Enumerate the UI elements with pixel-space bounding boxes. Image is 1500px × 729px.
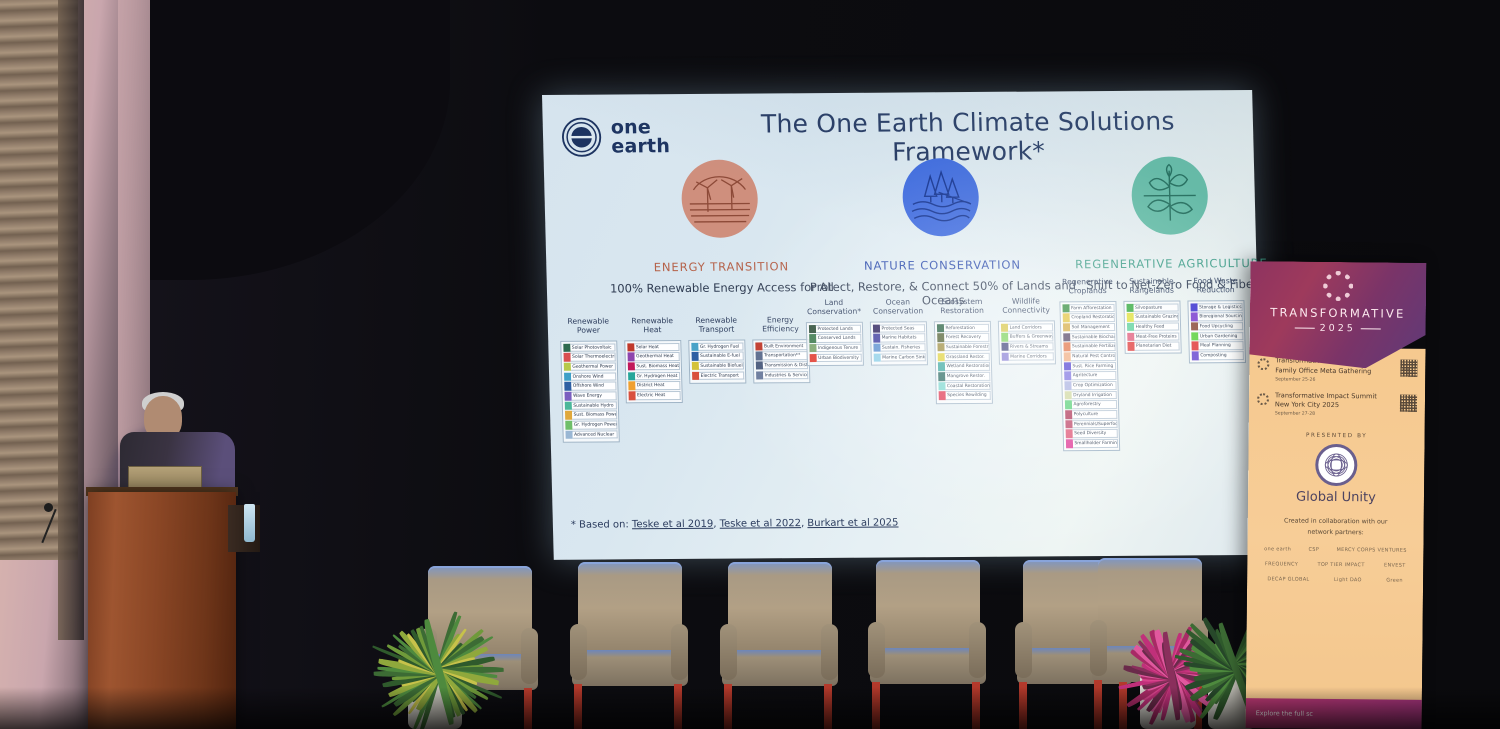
one-earth-logo: one earth xyxy=(561,116,671,158)
item-label: Electric Heat xyxy=(635,391,680,400)
list-item: Rivers & Streams xyxy=(1001,342,1053,351)
chair-back xyxy=(876,560,980,656)
column-item-list: Solar HeatGeothermal HeatSust. Biomass H… xyxy=(624,340,683,404)
global-unity-logo-icon xyxy=(1315,444,1357,486)
item-label: Seed Diversity xyxy=(1072,429,1117,438)
item-label: Rivers & Streams xyxy=(1008,342,1053,351)
item-label: Soil Management xyxy=(1069,323,1114,332)
item-label: Sustainable Biochar xyxy=(1070,333,1115,342)
chair-arm xyxy=(821,624,838,680)
item-label: Protected Lands xyxy=(815,324,860,333)
dotted-ring-icon xyxy=(1257,393,1269,405)
list-item: Solar Heat xyxy=(627,343,679,352)
pillar-nature-conservation: NATURE CONSERVATION Protect, Restore, & … xyxy=(806,157,1078,308)
framework-column: Land Conservation*Protected LandsConserv… xyxy=(805,298,864,366)
list-item: Wetland Restoration xyxy=(937,362,989,371)
item-label: Wave Energy xyxy=(571,391,616,400)
list-item: Species Rewilding xyxy=(938,391,990,400)
item-label: Agritecture xyxy=(1071,371,1116,380)
chair-arm xyxy=(720,624,737,680)
framework-column: Ecosystem RestorationReforestationForest… xyxy=(933,297,993,404)
list-item: Sustainable Grazing xyxy=(1126,313,1178,322)
event-banner: Transformative Ventures' Family Office M… xyxy=(1246,261,1427,729)
partner-logo: ENVEST xyxy=(1384,562,1406,568)
column-title: Renewable Power xyxy=(560,316,618,336)
chair-back xyxy=(728,562,832,658)
partner-logos: one earth CSP MERCY CORPS VENTURES FREQU… xyxy=(1247,546,1423,584)
list-item: Bioregional Sourcing xyxy=(1190,312,1242,321)
framework-column: Renewable PowerSolar PhotovoltaicSolar T… xyxy=(560,316,620,442)
list-item: Gr. Hydrogen Fuel xyxy=(691,342,743,351)
collab-line2: network partners: xyxy=(1248,527,1424,540)
list-item: Marine Habitats xyxy=(873,333,925,342)
banner-event-2: Transformative Impact Summit New York Ci… xyxy=(1249,391,1425,418)
item-label: Buffers & Greenways xyxy=(1008,333,1053,342)
qr-code-icon[interactable] xyxy=(1400,394,1417,411)
column-item-list: Protected LandsConserved LandsIndigenous… xyxy=(806,322,864,366)
stage-scene: one earth The One Earth Climate Solution… xyxy=(0,0,1500,729)
banner-title: TRANSFORMATIVE xyxy=(1250,305,1426,321)
list-item: Sustainable Fertilizer xyxy=(1063,342,1115,351)
pillar-subheading: 100% Renewable Energy Access for All xyxy=(607,280,837,296)
framework-column: Food Waste ReductionStorage & LogisticsB… xyxy=(1187,276,1246,363)
list-item: Seed Diversity xyxy=(1065,429,1117,438)
item-label: Solar Photovoltaic xyxy=(570,343,615,352)
item-label: Forest Recovery xyxy=(944,333,989,342)
list-item: Dryland Irrigation xyxy=(1064,391,1116,400)
list-item: Buffers & Greenways xyxy=(1001,333,1053,342)
item-label: Marine Carbon Sinks xyxy=(880,353,925,362)
column-title: Energy Efficiency xyxy=(752,315,810,335)
chair-back xyxy=(578,562,682,658)
foreground-shadow xyxy=(0,687,1500,729)
list-item: Sustainable Forestry xyxy=(937,343,989,352)
partner-logo: Green xyxy=(1386,577,1403,583)
column-item-list: ReforestationForest RecoverySustainable … xyxy=(934,321,993,404)
partner-logo: FREQUENCY xyxy=(1265,561,1298,567)
partner-logo: MERCY CORPS VENTURES xyxy=(1336,547,1406,554)
chair-arm xyxy=(570,624,587,680)
item-label: Planetarian Diet xyxy=(1134,342,1179,351)
event-date: September 25-26 xyxy=(1275,377,1394,383)
framework-column: Sustainable RangelandsSilvopastureSustai… xyxy=(1123,277,1182,355)
framework-column: Renewable TransportGr. Hydrogen FuelSust… xyxy=(688,316,747,384)
list-item: Transmission & Dist. xyxy=(755,361,807,370)
column-item-list: Land CorridorsBuffers & GreenwaysRivers … xyxy=(998,320,1056,364)
list-item: Offshore Wind xyxy=(564,382,616,391)
chair-arm xyxy=(1090,620,1107,676)
footnote-prefix: * Based on: xyxy=(571,519,632,530)
column-item-list: Protected SeasMarine HabitatsSustain. Fi… xyxy=(870,321,928,365)
list-item: Meat-Free Proteins xyxy=(1127,332,1179,341)
item-label: Composting xyxy=(1198,351,1243,360)
item-label: Mangrove Restor. xyxy=(945,372,990,381)
list-item: District Heat xyxy=(628,381,680,390)
item-label: Onshore Wind xyxy=(571,372,616,381)
one-earth-wordmark: one earth xyxy=(611,118,671,155)
list-item: Storage & Logistics xyxy=(1190,303,1242,312)
list-item: Gr. Hydrogen Power xyxy=(565,420,617,429)
partner-logo: one earth xyxy=(1264,546,1291,552)
list-item: Composting xyxy=(1191,351,1243,360)
item-label: Sustainable E-fuel xyxy=(698,352,743,361)
presenter-org-name: Global Unity xyxy=(1248,489,1424,506)
list-item: Gr. Hydrogen Heat xyxy=(628,372,680,381)
event-date: September 27-28 xyxy=(1275,412,1394,418)
framework-column: Wildlife ConnectivityLand CorridorsBuffe… xyxy=(997,296,1056,364)
item-label: Transmission & Dist. xyxy=(762,361,807,370)
item-label: Solar Heat xyxy=(634,343,679,352)
citation-link-1[interactable]: Teske et al 2019 xyxy=(632,519,714,531)
item-label: Sust. Biomass Heat xyxy=(634,362,679,371)
item-label: Indigenous Tenure xyxy=(816,344,861,353)
list-item: Sustainable E-fuel xyxy=(691,352,743,361)
presented-by-label: PRESENTED BY xyxy=(1249,432,1425,440)
list-item: Advanced Nuclear xyxy=(565,430,617,439)
list-item: Marine Corridors xyxy=(1001,352,1053,361)
item-label: Grassland Restor. xyxy=(944,352,989,361)
pillar-heading: ENERGY TRANSITION xyxy=(606,259,836,275)
item-label: Protected Seas xyxy=(879,324,924,333)
architectural-column-shadow xyxy=(58,0,84,640)
list-item: Electric Transport xyxy=(692,371,744,380)
list-item: Sustain. Fisheries xyxy=(873,343,925,352)
list-item: Indigenous Tenure xyxy=(809,344,861,353)
item-label: Silvopasture xyxy=(1133,303,1178,312)
list-item: Industries & Services xyxy=(756,371,808,380)
column-title: Food Waste Reduction xyxy=(1187,276,1245,296)
chair-arm xyxy=(521,628,538,684)
list-item: Electric Heat xyxy=(628,391,680,400)
slide-footnote: * Based on: Teske et al 2019, Teske et a… xyxy=(571,517,899,530)
item-label: Dryland Irrigation xyxy=(1071,391,1116,400)
list-item: Solar Thermoelectric xyxy=(563,353,615,362)
microphone-icon xyxy=(44,503,53,512)
list-item: Silvopasture xyxy=(1126,303,1178,312)
column-title: Regenerative Croplands xyxy=(1059,277,1117,297)
column-item-list: Farm AfforestationCropland RestorationSo… xyxy=(1059,301,1120,452)
item-label: Urban Biodiversity xyxy=(816,353,861,362)
item-label: Cropland Restoration xyxy=(1069,313,1114,322)
list-item: Geothermal Heat xyxy=(627,352,679,361)
item-label: Natural Pest Control xyxy=(1070,352,1115,361)
item-label: Advanced Nuclear xyxy=(572,430,617,439)
citation-link-2[interactable]: Teske et al 2022 xyxy=(720,518,802,530)
nature-columns: Land Conservation*Protected LandsConserv… xyxy=(805,296,1057,404)
chair-arm xyxy=(969,622,986,678)
item-label: Geothermal Heat xyxy=(634,352,679,361)
item-label: Reforestation xyxy=(943,323,988,332)
chair-arm xyxy=(868,622,885,678)
framework-column: Renewable HeatSolar HeatGeothermal HeatS… xyxy=(624,316,683,403)
list-item: Soil Management xyxy=(1062,323,1114,332)
item-label: Electric Transport xyxy=(699,371,744,380)
item-label: Offshore Wind xyxy=(571,382,616,391)
item-label: Food Upcycling xyxy=(1197,322,1242,331)
item-label: Sustainable Grazing xyxy=(1133,313,1178,322)
item-label: District Heat xyxy=(635,381,680,390)
item-label: Perennials/Superfoods xyxy=(1072,420,1117,429)
collaboration-text: Created in collaboration with our networ… xyxy=(1248,516,1424,539)
list-item: Healthy Feed xyxy=(1126,322,1178,331)
list-item: Farm Afforestation xyxy=(1062,303,1114,312)
partner-row: DECAP GLOBAL Light DAO Green xyxy=(1255,576,1415,584)
list-item: Meal Planning xyxy=(1191,341,1243,350)
chair-arm xyxy=(1015,622,1032,678)
column-item-list: SilvopastureSustainable GrazingHealthy F… xyxy=(1123,301,1181,355)
item-label: Sust. Rice Farming xyxy=(1070,362,1115,371)
item-label: Coastal Restoration xyxy=(945,381,990,390)
item-label: Gr. Hydrogen Power xyxy=(572,420,617,429)
column-item-list: Built EnvironmentTransportation**Transmi… xyxy=(752,339,810,383)
list-item: Protected Lands xyxy=(808,324,860,333)
item-label: Sust. Biomass Power xyxy=(572,411,617,420)
column-title: Sustainable Rangelands xyxy=(1123,277,1181,297)
water-bottle xyxy=(244,504,255,542)
list-item: Sust. Biomass Heat xyxy=(627,362,679,371)
list-item: Built Environment xyxy=(755,342,807,351)
item-label: Storage & Logistics xyxy=(1197,303,1242,312)
list-item: Protected Seas xyxy=(872,324,924,333)
item-label: Industries & Services xyxy=(763,371,808,380)
citation-link-3[interactable]: Burkart et al 2025 xyxy=(807,517,898,529)
column-item-list: Solar PhotovoltaicSolar ThermoelectricGe… xyxy=(560,340,620,442)
item-label: Urban Gardening xyxy=(1198,332,1243,341)
list-item: Conserved Lands xyxy=(809,334,861,343)
dotted-ring-icon xyxy=(1257,358,1269,370)
item-label: Built Environment xyxy=(762,342,807,351)
item-label: Marine Corridors xyxy=(1008,352,1053,361)
item-label: Transportation** xyxy=(762,351,807,360)
column-item-list: Gr. Hydrogen FuelSustainable E-fuelSusta… xyxy=(688,340,746,384)
partner-row: one earth CSP MERCY CORPS VENTURES xyxy=(1255,546,1415,554)
item-label: Conserved Lands xyxy=(816,334,861,343)
list-item: Solar Photovoltaic xyxy=(563,343,615,352)
forest-water-icon xyxy=(902,158,980,237)
list-item: Sustainable Hydro xyxy=(564,401,616,410)
item-label: Meat-Free Proteins xyxy=(1134,332,1179,341)
list-item: Marine Carbon Sinks xyxy=(873,353,925,362)
list-item: Smallholder Farming xyxy=(1065,439,1117,448)
column-title: Renewable Transport xyxy=(688,316,746,336)
pillar-heading: NATURE CONSERVATION xyxy=(808,257,1076,273)
tree-icon xyxy=(1131,156,1209,235)
agriculture-columns: Regenerative CroplandsFarm Afforestation… xyxy=(1059,276,1248,452)
list-item: Perennials/Superfoods xyxy=(1065,420,1117,429)
one-earth-mark-icon xyxy=(561,117,603,158)
partner-logo: Light DAO xyxy=(1334,577,1362,583)
list-item: Transportation** xyxy=(755,351,807,360)
item-label: Wetland Restoration xyxy=(944,362,989,371)
list-item: Sust. Rice Farming xyxy=(1063,362,1115,371)
item-label: Healthy Feed xyxy=(1133,322,1178,331)
projection-screen: one earth The One Earth Climate Solution… xyxy=(542,90,1264,560)
item-label: Meal Planning xyxy=(1198,341,1243,350)
column-title: Land Conservation* xyxy=(805,298,863,318)
transformative-ring-icon xyxy=(1323,271,1353,301)
item-label: Species Rewilding xyxy=(945,391,990,400)
list-item: Onshore Wind xyxy=(564,372,616,381)
list-item: Crop Optimization xyxy=(1064,381,1116,390)
item-label: Crop Optimization xyxy=(1071,381,1116,390)
list-item: Wave Energy xyxy=(564,391,616,400)
column-title: Renewable Heat xyxy=(624,316,682,336)
banner-year: 2025 xyxy=(1250,322,1426,335)
item-label: Solar Thermoelectric xyxy=(570,353,615,362)
pillar-energy-transition: ENERGY TRANSITION 100% Renewable Energy … xyxy=(604,159,837,296)
list-item: Sustainable Biofuel xyxy=(691,361,743,370)
column-title: Wildlife Connectivity xyxy=(997,296,1055,316)
partner-logo: TOP TIER IMPACT xyxy=(1317,561,1364,567)
list-item: Cropland Restoration xyxy=(1062,313,1114,322)
column-item-list: Storage & LogisticsBioregional SourcingF… xyxy=(1187,300,1246,364)
item-label: Marine Habitats xyxy=(880,333,925,342)
partner-row: FREQUENCY TOP TIER IMPACT ENVEST xyxy=(1255,561,1415,569)
item-label: Agroforestry xyxy=(1071,400,1116,409)
framework-column: Regenerative CroplandsFarm Afforestation… xyxy=(1059,277,1120,452)
list-item: Polyculture xyxy=(1065,410,1117,419)
list-item: Grassland Restor. xyxy=(937,352,989,361)
list-item: Natural Pest Control xyxy=(1063,352,1115,361)
list-item: Forest Recovery xyxy=(937,333,989,342)
item-label: Farm Afforestation xyxy=(1069,303,1114,312)
item-label: Sustainable Forestry xyxy=(944,343,989,352)
item-label: Land Corridors xyxy=(1007,323,1052,332)
partner-logo: CSP xyxy=(1308,546,1319,552)
event-name-line2: Family Office Meta Gathering xyxy=(1275,366,1394,377)
list-item: Planetarian Diet xyxy=(1127,342,1179,351)
framework-column: Ocean ConservationProtected SeasMarine H… xyxy=(869,297,928,365)
list-item: Coastal Restoration xyxy=(938,381,990,390)
list-item: Mangrove Restor. xyxy=(938,372,990,381)
item-label: Gr. Hydrogen Heat xyxy=(635,372,680,381)
item-label: Bioregional Sourcing xyxy=(1197,312,1242,321)
chair-arm xyxy=(671,624,688,680)
list-item: Sust. Biomass Power xyxy=(565,411,617,420)
item-label: Geothermal Power xyxy=(570,362,615,371)
energy-columns: Renewable PowerSolar PhotovoltaicSolar T… xyxy=(560,315,812,443)
item-label: Sustainable Fertilizer xyxy=(1070,342,1115,351)
list-item: Reforestation xyxy=(936,323,988,332)
list-item: Food Upcycling xyxy=(1190,322,1242,331)
column-title: Ecosystem Restoration xyxy=(933,297,991,317)
item-label: Sustainable Hydro xyxy=(571,401,616,410)
item-label: Sustainable Biofuel xyxy=(698,361,743,370)
list-item: Agroforestry xyxy=(1064,400,1116,409)
list-item: Agritecture xyxy=(1064,371,1116,380)
event-name-line2: New York City 2025 xyxy=(1275,400,1394,411)
item-label: Smallholder Farming xyxy=(1072,439,1117,448)
banner-body: Transformative Ventures' Family Office M… xyxy=(1246,347,1426,729)
item-label: Polyculture xyxy=(1072,410,1117,419)
wind-turbine-icon xyxy=(681,159,759,238)
list-item: Urban Gardening xyxy=(1191,332,1243,341)
partner-logo: DECAP GLOBAL xyxy=(1267,576,1309,582)
list-item: Sustainable Biochar xyxy=(1063,333,1115,342)
framework-column: Energy EfficiencyBuilt EnvironmentTransp… xyxy=(752,315,811,383)
column-title: Ocean Conservation xyxy=(869,297,927,317)
item-label: Sustain. Fisheries xyxy=(880,343,925,352)
list-item: Geothermal Power xyxy=(563,362,615,371)
item-label: Gr. Hydrogen Fuel xyxy=(698,342,743,351)
qr-code-icon[interactable] xyxy=(1400,360,1417,377)
list-item: Urban Biodiversity xyxy=(809,353,861,362)
list-item: Land Corridors xyxy=(1000,323,1052,332)
